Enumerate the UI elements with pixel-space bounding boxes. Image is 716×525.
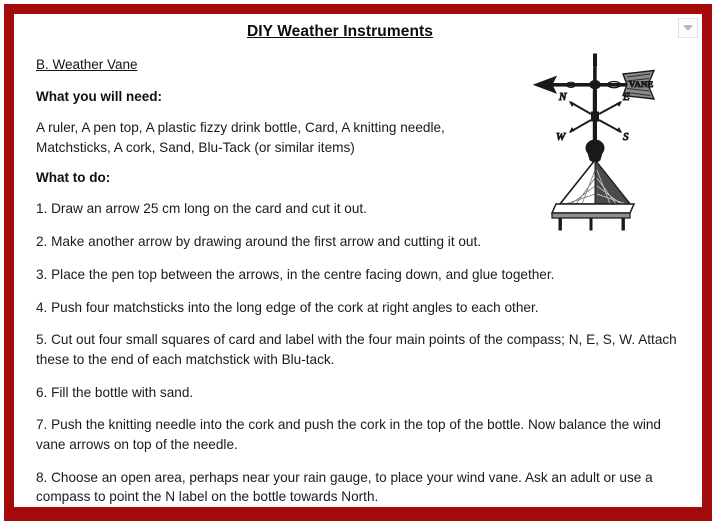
materials-list: A ruler, A pen top, A plastic fizzy drin… [36,118,508,157]
document-border-frame: VANE [4,4,712,521]
document-page: VANE [14,14,702,507]
instruction-step-7: 7. Push the knitting needle into the cor… [36,415,684,454]
instruction-step-1: 1. Draw an arrow 25 cm long on the card … [36,199,508,219]
section-heading-text: B. Weather Vane [36,57,138,72]
page-title: DIY Weather Instruments [36,23,684,41]
instruction-step-3: 3. Place the pen top between the arrows,… [36,265,636,285]
instruction-step-6: 6. Fill the bottle with sand. [36,383,684,403]
instruction-step-5: 5. Cut out four small squares of card an… [36,330,684,369]
instruction-step-2: 2. Make another arrow by drawing around … [36,232,636,252]
instruction-step-8: 8. Choose an open area, perhaps near you… [36,468,684,507]
section-heading: B. Weather Vane [36,57,684,72]
instruction-step-4: 4. Push four matchsticks into the long e… [36,298,636,318]
instructions-label: What to do: [36,170,684,185]
materials-label: What you will need: [36,89,684,104]
document-content: DIY Weather Instruments B. Weather Vane … [14,14,702,507]
